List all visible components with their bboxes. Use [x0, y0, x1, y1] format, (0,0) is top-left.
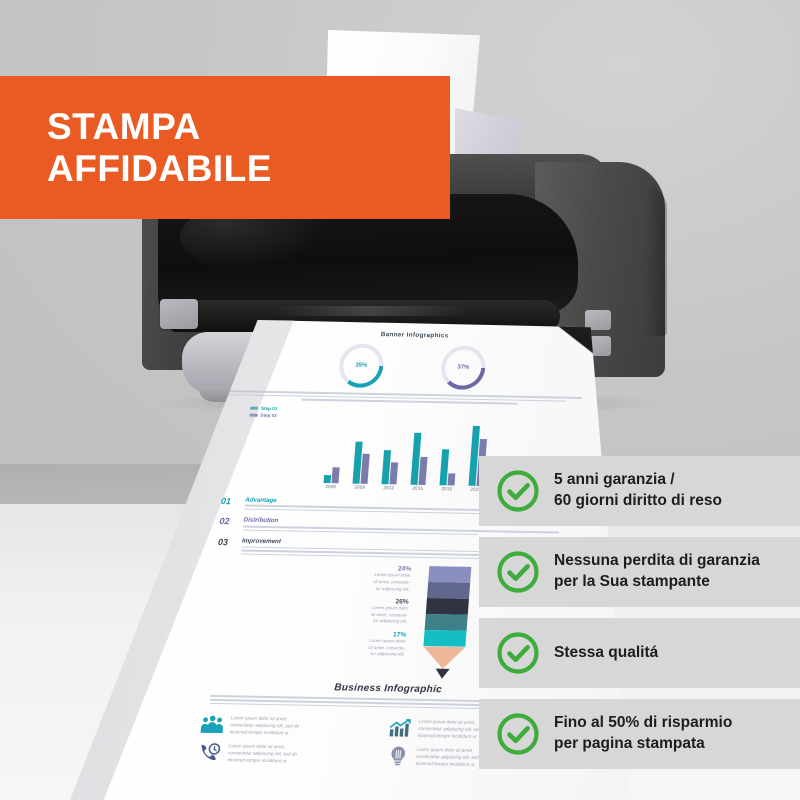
intro-paragraph-placeholder: [223, 390, 598, 406]
donut-value-label: 37%: [457, 365, 469, 371]
pencil-stat-item: 26% Lorem ipsum dolor sit amet, consecte…: [198, 595, 415, 626]
icon-cell-text: Lorem ipsum dolor sit amet, consectetur …: [417, 718, 488, 741]
step-number: 03: [218, 537, 237, 547]
pencil-graphic: [421, 567, 471, 680]
printer-button-right-top-icon[interactable]: [585, 310, 611, 330]
growth-chart-icon: [387, 718, 412, 738]
printer-hood-lip-sheen: [270, 306, 470, 316]
donut-chart-1: 35%: [338, 343, 385, 388]
pencil-segment: [428, 567, 471, 584]
pencil-stat-item: 17% Lorem ipsum dolor sit amet, consecte…: [195, 628, 412, 659]
pencil-segment: [425, 614, 468, 631]
check-circle-icon: [496, 469, 540, 513]
phone-clock-icon: [197, 741, 222, 761]
pencil-stat-text: Lorem ipsum dolor sit amet, consecte- tu…: [200, 569, 410, 593]
check-circle-icon: [496, 631, 540, 675]
x-axis-tick-label: 2009: [352, 485, 367, 490]
x-axis-tick-label: 2018: [439, 487, 454, 492]
bar-step-02: [447, 473, 455, 485]
page-title: STAMPAAFFIDABILE: [0, 106, 272, 189]
icon-cell-text: Lorem ipsum dolor sit amet, consectetur …: [415, 745, 486, 768]
pencil-segment: [423, 630, 466, 647]
bar-step-01: [324, 475, 332, 483]
pencil-segment: [426, 598, 469, 615]
check-circle-icon: [496, 550, 540, 594]
bar-group: [410, 433, 429, 485]
feature-box-3: Stessa qualitá: [479, 618, 800, 688]
pencil-segment: [427, 582, 470, 599]
x-axis-tick-label: 2015: [410, 486, 425, 491]
bar-group: [324, 467, 340, 483]
feature-box-2: Nessuna perdita di garanzia per la Sua s…: [479, 537, 800, 607]
list-item: Lorem ipsum dolor sit amet, consectetur …: [197, 741, 377, 766]
icon-cell-text: Lorem ipsum dolor sit amet, consectetur …: [227, 742, 298, 765]
bar-group: [439, 449, 457, 485]
pencil-stat-text: Lorem ipsum dolor sit amet, consecte- tu…: [195, 635, 405, 659]
bar-step-02: [360, 454, 369, 484]
bar-group: [353, 441, 371, 483]
pencil-wood-tip: [422, 646, 466, 669]
step-number: 02: [219, 517, 238, 527]
donut-chart-2: 37%: [440, 345, 487, 390]
icon-cell-text: Lorem ipsum dolor sit amet, consectetur …: [229, 715, 300, 738]
people-group-icon: [199, 714, 224, 734]
bar-step-02: [418, 457, 427, 485]
bar-step-02: [332, 467, 340, 483]
banner-line-2: AFFIDABILE: [47, 148, 272, 189]
feature-text: Fino al 50% di risparmio per pagina stam…: [554, 713, 732, 754]
headline-banner: STAMPAAFFIDABILE: [0, 76, 450, 219]
check-circle-icon: [496, 712, 540, 756]
feature-box-1: 5 anni garanzia / 60 giorni diritto di r…: [479, 456, 800, 526]
bar-step-02: [389, 462, 398, 484]
bar-group: [381, 450, 399, 484]
list-item: Lorem ipsum dolor sit amet, consectetur …: [199, 714, 379, 739]
lightbulb-icon: [385, 745, 410, 765]
x-axis-tick-label: 2012: [381, 486, 396, 491]
printer-button-left-icon[interactable]: [160, 299, 198, 329]
feature-text: Nessuna perdita di garanzia per la Sua s…: [554, 551, 760, 592]
banner-line-1: STAMPA: [47, 106, 201, 147]
legend-label-step-01: Step 01: [261, 406, 278, 411]
legend-label-step-02: Step 02: [260, 413, 277, 418]
donut-value-label: 35%: [355, 363, 367, 369]
pencil-stat-text: Lorem ipsum dolor sit amet, consecte- tu…: [198, 602, 408, 626]
feature-box-4: Fino al 50% di risparmio per pagina stam…: [479, 699, 800, 769]
pencil-stat-item: 24% Lorem ipsum dolor sit amet, consecte…: [200, 562, 417, 593]
x-axis-tick-label: 2006: [323, 485, 338, 490]
pencil-graphite-nib: [435, 669, 450, 679]
scene-stage: Banner Infographics 35% 37%: [0, 0, 800, 800]
feature-text: Stessa qualitá: [554, 643, 658, 664]
feature-text: 5 anni garanzia / 60 giorni diritto di r…: [554, 470, 722, 511]
